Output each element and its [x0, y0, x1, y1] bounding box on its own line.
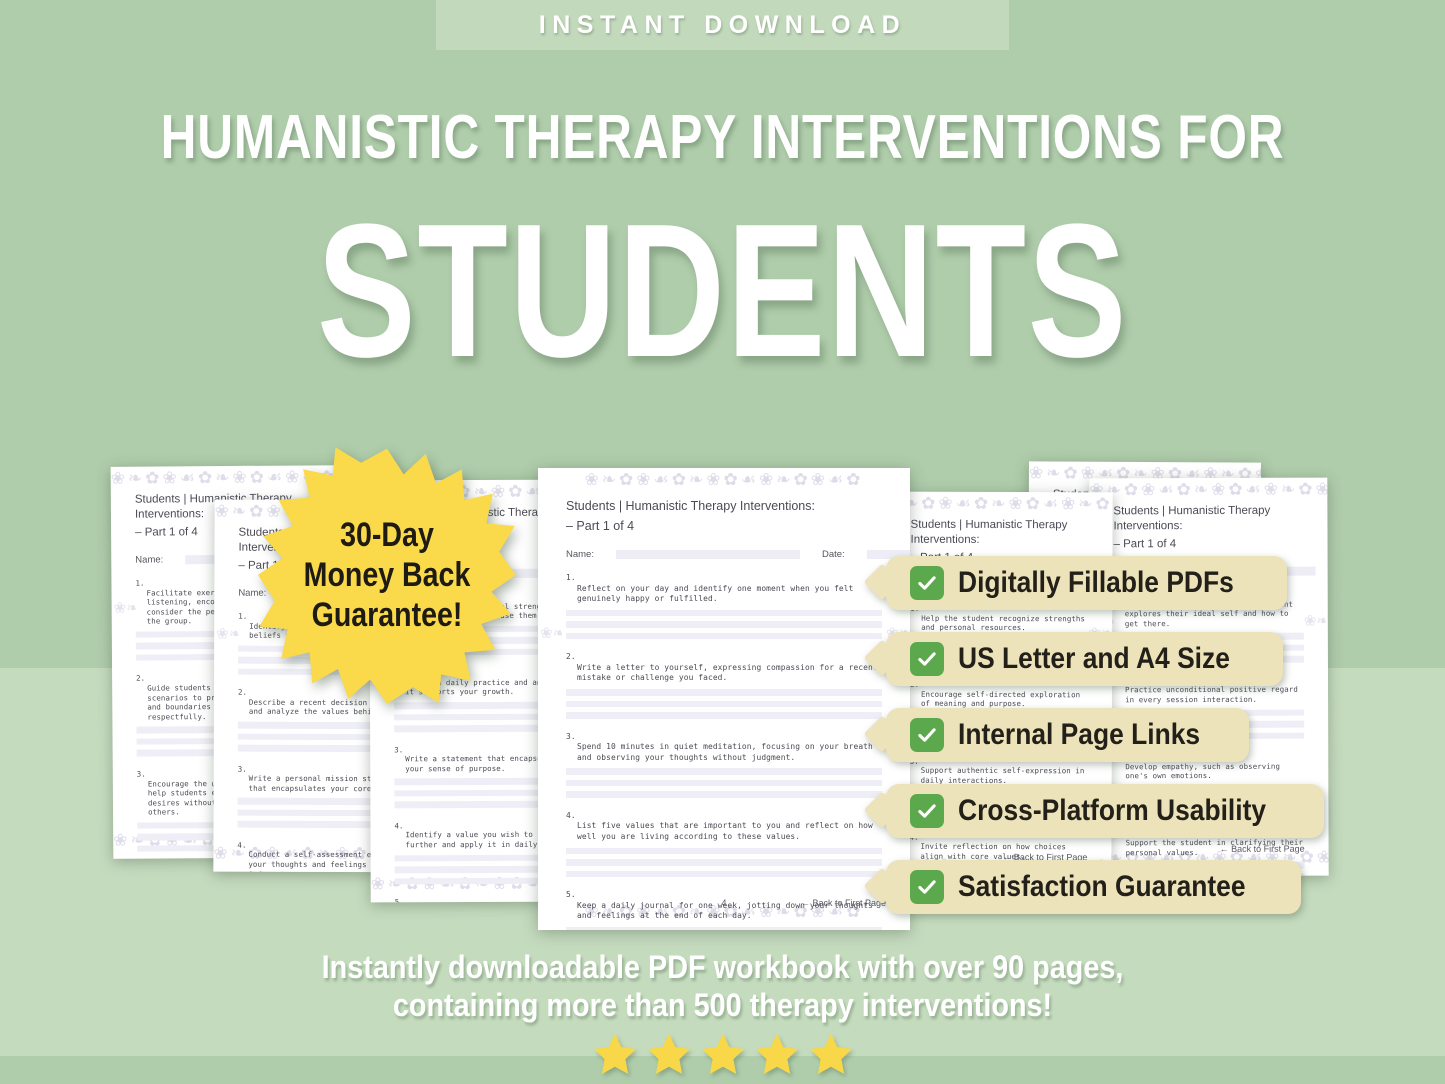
answer-lines[interactable] — [566, 927, 882, 930]
item-number: 4. — [394, 821, 405, 831]
intervention-item: 1.Reflect on your day and identify one m… — [566, 573, 882, 639]
check-icon — [910, 794, 944, 828]
page-header-line-1: Students | Humanistic Therapy Interventi… — [910, 518, 1088, 549]
money-back-guarantee-badge: 30-Day Money Back Guarantee! — [258, 446, 516, 704]
item-number: 3. — [238, 764, 249, 774]
page-header-line-2: – Part 1 of 4 — [1114, 537, 1304, 553]
feature-label: Internal Page Links — [958, 718, 1200, 752]
item-number: 2. — [136, 674, 147, 684]
name-label: Name: — [135, 554, 163, 565]
page-header: Students | Humanistic Therapy Interventi… — [566, 498, 882, 535]
item-number: 1. — [566, 573, 577, 584]
check-icon — [916, 648, 938, 670]
name-label: Name: — [566, 549, 594, 560]
page-header-line-2: – Part 1 of 4 — [566, 518, 882, 535]
feature-pill[interactable]: US Letter and A4 Size — [886, 632, 1283, 686]
answer-line[interactable] — [566, 701, 882, 708]
page-header-line-1: Students | Humanistic Therapy Interventi… — [1113, 504, 1303, 535]
check-icon — [916, 800, 938, 822]
item-number: 3. — [137, 770, 148, 780]
star-icon — [645, 1030, 693, 1078]
answer-line[interactable] — [566, 689, 882, 696]
answer-line[interactable] — [566, 768, 882, 775]
feature-label: Satisfaction Guarantee — [958, 870, 1246, 904]
feature-label: Cross-Platform Usability — [958, 794, 1266, 828]
answer-line[interactable] — [566, 859, 882, 866]
page-meta-row: Name:Date: — [566, 549, 882, 560]
star-icon — [807, 1030, 855, 1078]
item-text: Spend 10 minutes in quiet meditation, fo… — [566, 742, 882, 763]
check-icon — [910, 642, 944, 676]
answer-line[interactable] — [566, 871, 882, 878]
answer-lines[interactable] — [566, 768, 882, 798]
feature-pill[interactable]: Internal Page Links — [886, 708, 1249, 762]
check-icon — [910, 718, 944, 752]
answer-line[interactable] — [566, 621, 882, 628]
feature-pill[interactable]: Cross-Platform Usability — [886, 784, 1324, 838]
item-text: Write a letter to yourself, expressing c… — [566, 663, 882, 684]
feature-label: US Letter and A4 Size — [958, 642, 1230, 676]
tagline-line-2: containing more than 500 therapy interve… — [72, 986, 1373, 1024]
name-field[interactable] — [616, 550, 800, 559]
star-icon — [699, 1030, 747, 1078]
tagline-line-1: Instantly downloadable PDF workbook with… — [72, 948, 1373, 986]
document-page-main: ❀❧✿❀☙✿❧❀✿☙❀❧✿❀☙✿❀❧✿❀☙✿❧❀✿☙❀❧✿❀☙✿❀❧✿❀☙✿❧❀… — [538, 468, 910, 930]
check-icon — [910, 566, 944, 600]
item-number: 2. — [566, 652, 577, 663]
answer-line[interactable] — [566, 633, 882, 640]
check-icon — [916, 724, 938, 746]
check-icon — [910, 870, 944, 904]
intervention-item: 2.Write a letter to yourself, expressing… — [566, 652, 882, 718]
item-number: 3. — [566, 732, 577, 743]
page-title-line-2: STUDENTS — [159, 196, 1286, 386]
feature-pill[interactable]: Satisfaction Guarantee — [886, 860, 1301, 914]
item-number: 2. — [238, 688, 249, 698]
instant-download-banner: INSTANT DOWNLOAD — [436, 0, 1009, 50]
feature-label: Digitally Fillable PDFs — [958, 566, 1234, 600]
page-title-line-1: HUMANISTIC THERAPY INTERVENTIONS FOR — [145, 107, 1301, 169]
answer-lines[interactable] — [566, 689, 882, 719]
poster-canvas: ❀❧✿❀☙✿❧❀✿☙❀❧✿❀☙✿❀❧✿❀☙✿❧❀✿☙❀❧✿❀☙✿❀❧✿❀☙✿❧❀… — [0, 0, 1445, 1084]
item-number: 4. — [237, 841, 248, 851]
answer-line[interactable] — [566, 791, 882, 798]
page-header: Students | Humanistic Therapy Interventi… — [1113, 504, 1303, 553]
intervention-item: 5.Keep a daily journal for one week, jot… — [566, 890, 882, 930]
item-number: 4. — [566, 811, 577, 822]
item-number: 1. — [238, 612, 249, 622]
star-rating — [0, 1030, 1445, 1078]
answer-line[interactable] — [566, 610, 882, 617]
item-text: Reflect on your day and identify one mom… — [566, 584, 882, 605]
item-text: List five values that are important to y… — [566, 821, 882, 842]
answer-line[interactable] — [566, 780, 882, 787]
answer-line[interactable] — [566, 848, 882, 855]
answer-lines[interactable] — [566, 848, 882, 878]
tagline: Instantly downloadable PDF workbook with… — [72, 948, 1373, 1024]
instant-download-label: INSTANT DOWNLOAD — [539, 11, 906, 40]
answer-line[interactable] — [566, 712, 882, 719]
page-header-line-1: Students | Humanistic Therapy Interventi… — [566, 498, 882, 515]
date-label: Date: — [822, 549, 845, 560]
star-icon — [591, 1030, 639, 1078]
check-icon — [916, 876, 938, 898]
page-number: 4 — [562, 898, 886, 908]
item-number: 3. — [394, 745, 405, 755]
page-footer: 4← Back to First Page — [562, 898, 886, 908]
answer-line[interactable] — [566, 927, 882, 930]
answer-lines[interactable] — [566, 610, 882, 640]
feature-list: Digitally Fillable PDFsUS Letter and A4 … — [886, 556, 1324, 936]
intervention-item: 3.Spend 10 minutes in quiet meditation, … — [566, 732, 882, 798]
star-icon — [753, 1030, 801, 1078]
check-icon — [916, 572, 938, 594]
item-number: 5. — [395, 897, 406, 902]
feature-pill[interactable]: Digitally Fillable PDFs — [886, 556, 1287, 610]
starburst-icon — [258, 446, 516, 704]
item-number: 1. — [135, 579, 146, 589]
intervention-item: 4.List five values that are important to… — [566, 811, 882, 877]
